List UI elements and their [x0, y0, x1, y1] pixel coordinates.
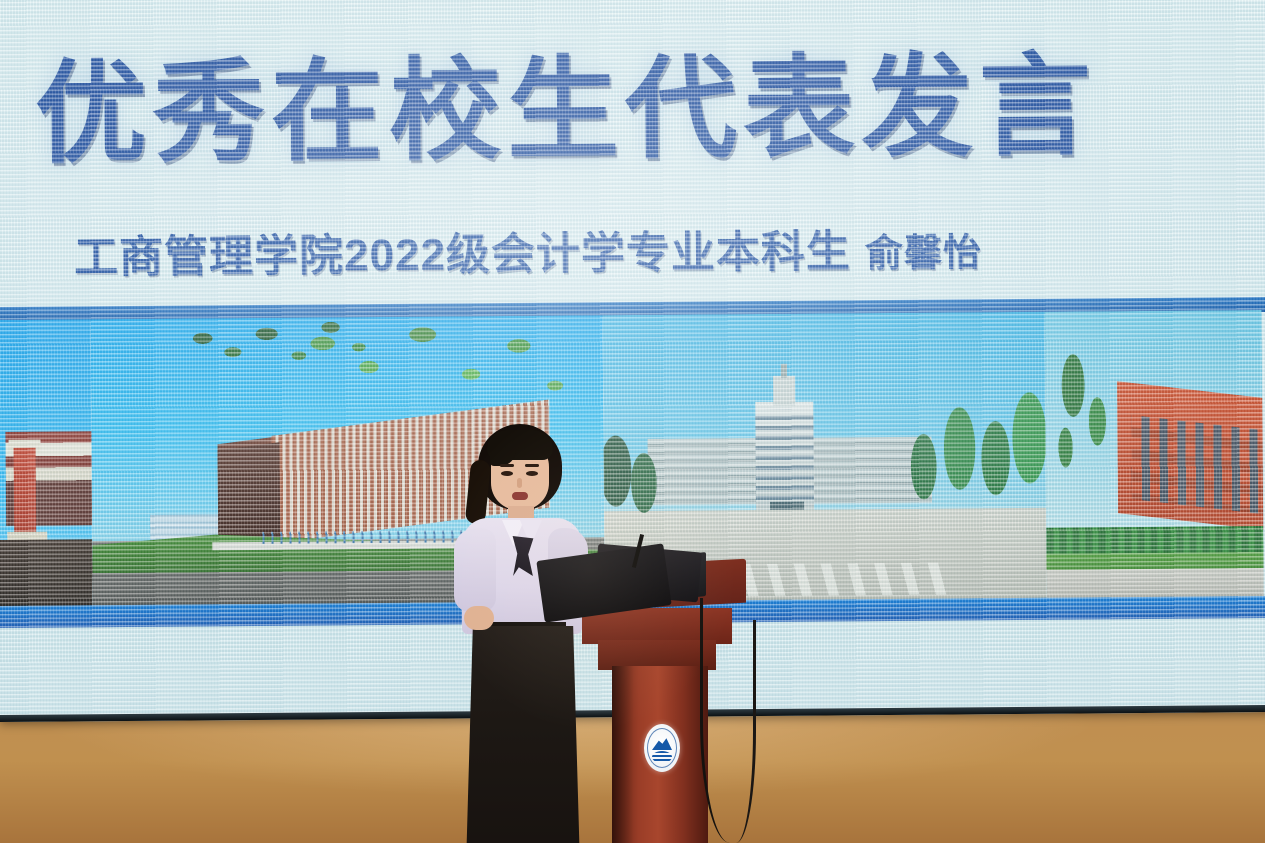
- hand-left: [464, 606, 494, 630]
- slide-speaker-name: 俞馨怡: [865, 232, 982, 275]
- nose: [517, 478, 522, 488]
- hedge-row: [1046, 526, 1263, 554]
- ponytail: [465, 459, 492, 525]
- trees-left: [603, 411, 664, 521]
- skirt: [466, 626, 580, 843]
- ground: [0, 539, 93, 608]
- red-gate-pillar: [14, 448, 37, 536]
- campus-gate-photo: [0, 319, 93, 608]
- cable-secondary: [716, 620, 756, 843]
- red-brick-library-photo: [1045, 310, 1264, 600]
- building-side-wall: [218, 442, 281, 546]
- mouth: [512, 492, 528, 500]
- emblem-wave-motif: [652, 751, 672, 763]
- stage-scene: 优秀在校生代表发言 工商管理学院2022级会计学专业本科生俞馨怡: [0, 0, 1265, 843]
- foreground-tree: [1049, 335, 1120, 516]
- podium-shadow: [612, 666, 634, 843]
- tree-branch-right: [283, 315, 584, 434]
- eyebrow-left: [500, 464, 514, 467]
- tower-spire: [781, 364, 787, 378]
- slide-subtitle: 工商管理学院2022级会计学专业本科生俞馨怡: [74, 214, 982, 285]
- eye-right: [526, 471, 538, 476]
- slide-subtitle-text: 工商管理学院2022级会计学专业本科生: [74, 227, 851, 282]
- building-wing-left: [648, 438, 759, 505]
- clock-tower: [773, 376, 795, 406]
- building-windows: [1131, 415, 1263, 516]
- slide-title-zone: 优秀在校生代表发言 工商管理学院2022级会计学专业本科生俞馨怡: [0, 0, 1265, 314]
- trees-right: [903, 382, 1046, 529]
- university-emblem-icon: [644, 724, 680, 772]
- eyebrow-right: [525, 464, 539, 467]
- slide-main-title: 优秀在校生代表发言: [34, 47, 1097, 174]
- eye-left: [501, 471, 513, 476]
- sleeve-left: [454, 528, 496, 612]
- window-rows: [755, 410, 814, 506]
